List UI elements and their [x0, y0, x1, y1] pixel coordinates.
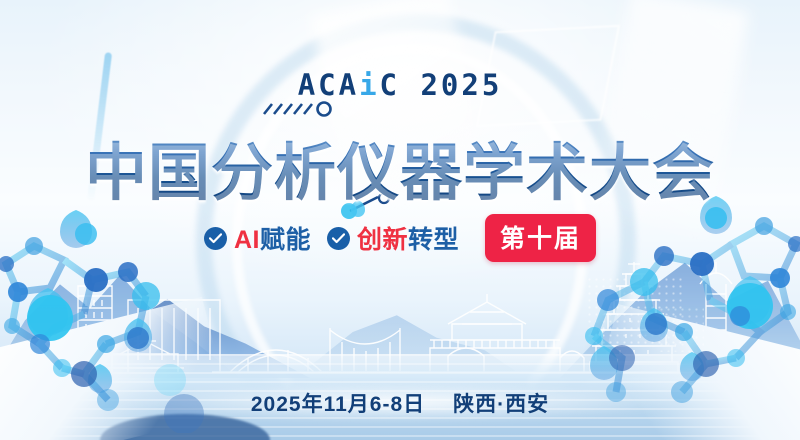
page-title: 中国分析仪器学术大会	[0, 122, 800, 212]
edition-badge: 第十届	[485, 214, 596, 262]
subtitle-row: AI赋能 创新转型 第十届	[0, 214, 800, 262]
event-date: 2025年11月6-8日	[251, 393, 425, 416]
header-line-ornament	[262, 100, 554, 118]
acronym-prefix: ACA	[298, 68, 359, 102]
subtitle-innovation-red: 创新	[357, 226, 408, 254]
event-footer: 2025年11月6-8日陕西·西安	[0, 388, 800, 418]
right-shore-wedge	[589, 304, 800, 440]
subtitle-ai-blue: 赋能	[260, 226, 311, 254]
acronym-highlight: i	[359, 68, 379, 102]
event-location: 陕西·西安	[453, 393, 549, 416]
left-shore-wedge	[0, 297, 231, 440]
subtitle-text-ai: AI赋能	[234, 220, 311, 256]
acronym-suffix: C 2025	[380, 68, 503, 102]
event-acronym: ACAiC 2025	[0, 68, 800, 102]
subtitle-item-ai: AI赋能	[204, 220, 311, 256]
subtitle-innovation-blue: 转型	[408, 226, 459, 254]
subtitle-ai-red: AI	[234, 226, 260, 254]
conference-banner: ACAiC 2025 中国分析仪器学术大会 AI赋能 创新转型 第十届 2025…	[0, 0, 800, 440]
subtitle-item-innovation: 创新转型	[327, 220, 459, 256]
subtitle-text-innovation: 创新转型	[357, 220, 459, 256]
check-circle-icon	[204, 227, 227, 250]
check-circle-icon	[327, 227, 350, 250]
